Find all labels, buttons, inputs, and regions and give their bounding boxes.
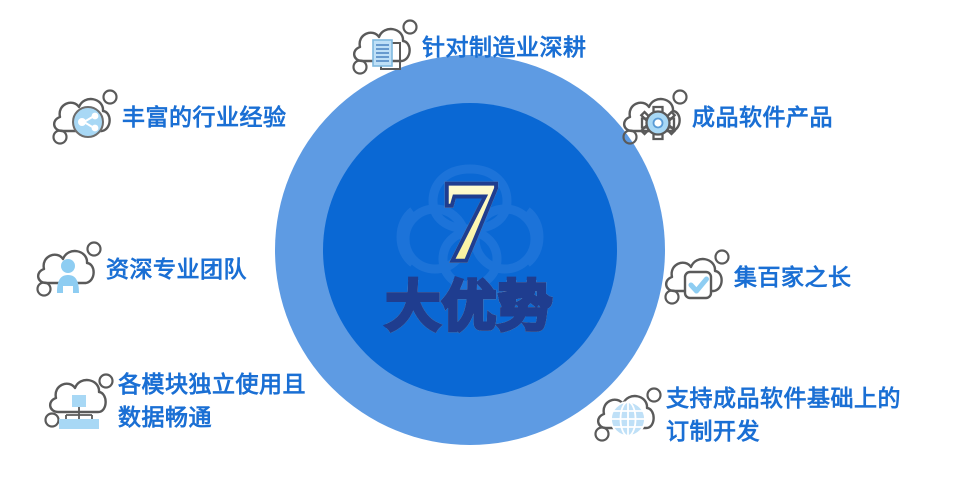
feature-label: 针对制造业深耕	[422, 31, 587, 64]
cloud-document-icon	[348, 18, 422, 76]
feature-label: 资深专业团队	[106, 253, 247, 286]
feature-item-manufacturing-focus[interactable]: 针对制造业深耕	[348, 18, 587, 76]
inner-circle: 7 大优势	[323, 103, 617, 397]
cloud-sitemap-icon	[44, 372, 118, 430]
feature-item-custom-development[interactable]: 支持成品软件基础上的 订制开发	[592, 382, 901, 447]
cloud-person-icon	[32, 240, 106, 298]
advantage-label: 大优势	[386, 280, 554, 335]
feature-item-industry-experience[interactable]: 丰富的行业经验	[48, 88, 287, 146]
cloud-checkbox-icon	[660, 248, 734, 306]
feature-item-modular-independent[interactable]: 各模块独立使用且 数据畅通	[44, 368, 306, 433]
cloud-share-network-icon	[48, 88, 122, 146]
feature-label: 各模块独立使用且 数据畅通	[118, 368, 306, 433]
feature-label: 支持成品软件基础上的 订制开发	[666, 382, 901, 447]
feature-label: 成品软件产品	[692, 101, 833, 134]
feature-item-expert-team[interactable]: 资深专业团队	[32, 240, 247, 298]
feature-label: 丰富的行业经验	[122, 101, 287, 134]
feature-label: 集百家之长	[734, 261, 852, 294]
cloud-gear-icon	[618, 88, 692, 146]
feature-item-finished-software[interactable]: 成品软件产品	[618, 88, 833, 146]
center-text-block: 7 大优势	[323, 103, 617, 397]
cloud-globe-icon	[592, 386, 666, 444]
feature-item-best-practices[interactable]: 集百家之长	[660, 248, 852, 306]
advantage-count: 7	[440, 165, 500, 278]
